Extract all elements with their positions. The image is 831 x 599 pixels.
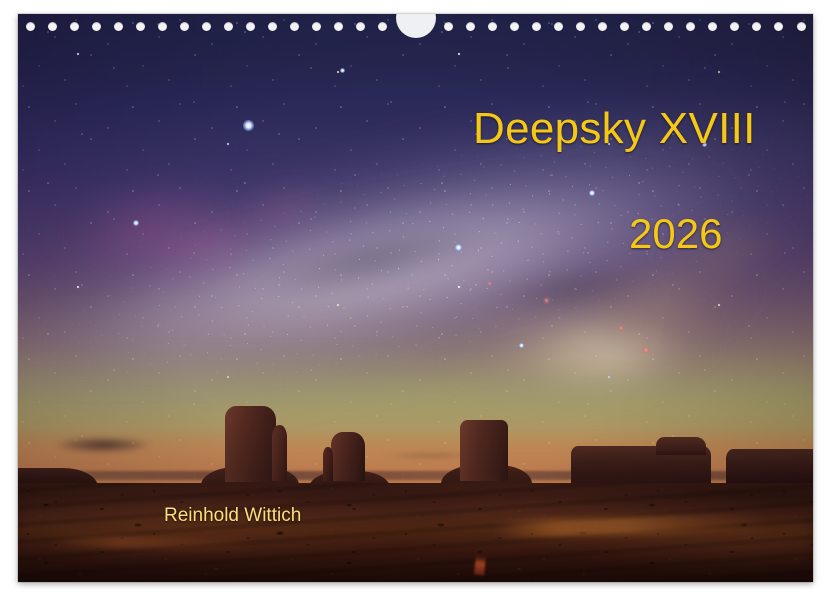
right-mesa-cap [656, 437, 707, 455]
horizon-cloud-left [43, 434, 162, 453]
emission-knot [487, 281, 492, 286]
east-mitten-thumb [323, 447, 333, 481]
bright-star [243, 120, 254, 131]
east-mitten-butte [331, 432, 365, 481]
west-mitten-butte [225, 406, 276, 482]
emission-knot [543, 297, 550, 304]
far-right-mesa [726, 449, 813, 483]
west-mitten-thumb [272, 425, 287, 481]
calendar-cover-sheet: Deepsky XVIII 2026 Reinhold Wittich [18, 14, 813, 582]
lit-ground-strip-left [50, 535, 257, 550]
screenshot-root: Deepsky XVIII 2026 Reinhold Wittich [0, 0, 831, 599]
author-credit: Reinhold Wittich [164, 506, 301, 525]
bright-star [133, 220, 139, 226]
calendar-title: Deepsky XVIII [473, 107, 756, 151]
calendar-year: 2026 [629, 213, 722, 255]
bright-star [340, 68, 345, 73]
cover-photograph [18, 14, 813, 582]
bright-star [589, 190, 595, 196]
merrick-butte [460, 420, 508, 481]
